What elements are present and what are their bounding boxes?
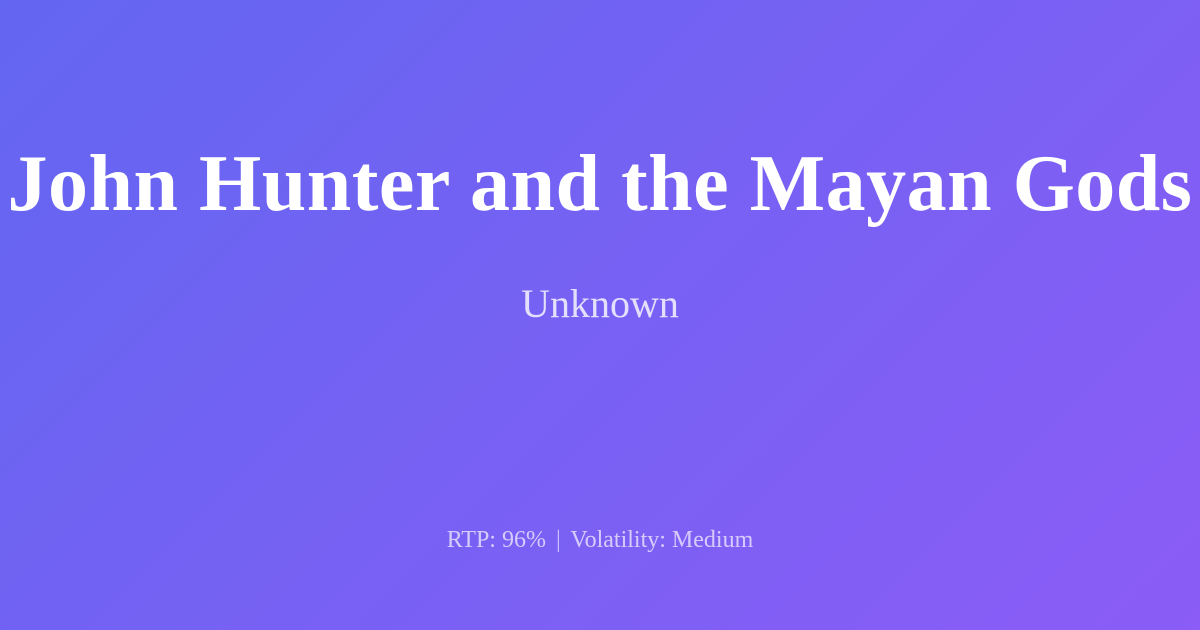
title-spacer	[600, 228, 601, 280]
title-block: John Hunter and the Mayan Gods Unknown	[0, 0, 1200, 468]
rtp-label: RTP: 96%	[447, 527, 546, 553]
game-meta-line: RTP: 96% | Volatility: Medium	[0, 526, 1200, 555]
page-title: John Hunter and the Mayan Gods	[0, 140, 1200, 228]
volatility-label: Volatility: Medium	[570, 527, 753, 553]
open-graph-card: John Hunter and the Mayan Gods Unknown R…	[0, 0, 1200, 630]
meta-separator: |	[552, 527, 565, 553]
page-subtitle: Unknown	[0, 280, 1200, 328]
